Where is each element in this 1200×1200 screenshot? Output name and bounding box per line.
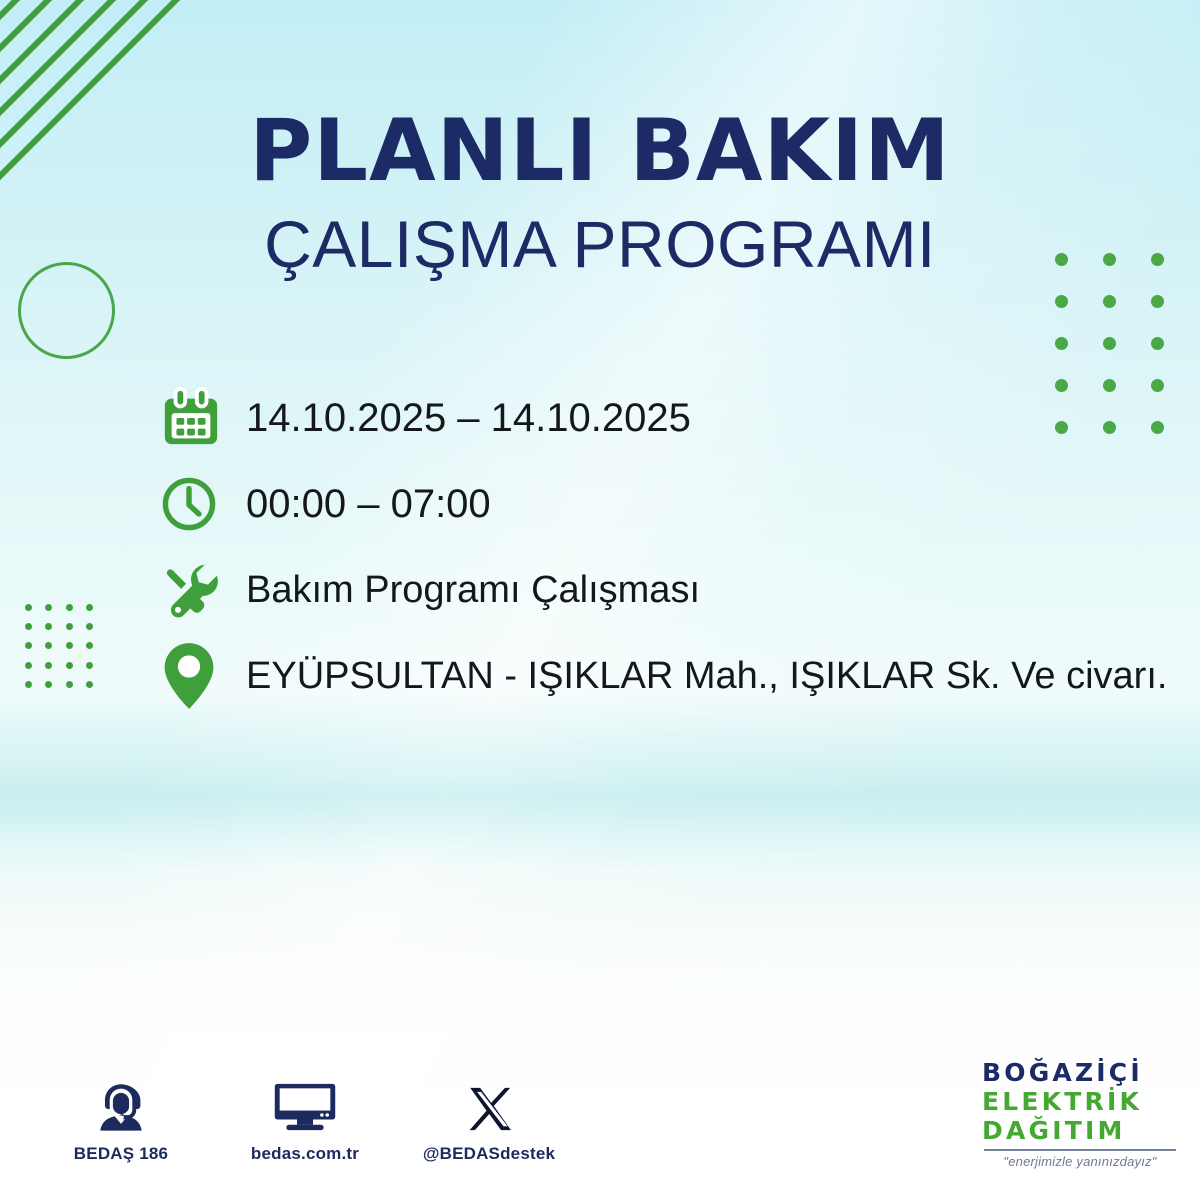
page-title: PLANLI BAKIM bbox=[0, 108, 1200, 194]
brand-line-2: ELEKTRİK bbox=[982, 1087, 1178, 1116]
detail-value-work-type: Bakım Programı Çalışması bbox=[246, 568, 700, 612]
clock-icon bbox=[160, 461, 246, 547]
poster-canvas: PLANLI BAKIM ÇALIŞMA PROGRAMI 14.10.2025 bbox=[0, 0, 1200, 1200]
calendar-icon bbox=[160, 375, 246, 461]
detail-row-time: 00:00 – 07:00 bbox=[160, 461, 1140, 547]
detail-row-location: EYÜPSULTAN - IŞIKLAR Mah., IŞIKLAR Sk. V… bbox=[160, 633, 1140, 719]
contact-phone[interactable]: BEDAŞ 186 bbox=[52, 1078, 190, 1164]
brand-divider bbox=[984, 1149, 1176, 1151]
detail-value-location: EYÜPSULTAN - IŞIKLAR Mah., IŞIKLAR Sk. V… bbox=[246, 654, 1167, 698]
background-wave-band bbox=[0, 690, 1200, 920]
brand-tagline: "enerjimizle yanınızdayız" bbox=[982, 1154, 1178, 1169]
detail-value-time: 00:00 – 07:00 bbox=[246, 482, 491, 526]
page-subtitle: ÇALIŞMA PROGRAMI bbox=[0, 209, 1200, 279]
detail-value-date: 14.10.2025 – 14.10.2025 bbox=[246, 396, 691, 440]
contact-phone-label: BEDAŞ 186 bbox=[74, 1144, 168, 1164]
brand-line-3: DAĞITIM bbox=[982, 1116, 1178, 1145]
contact-website-label: bedas.com.tr bbox=[251, 1144, 359, 1164]
headset-support-icon bbox=[94, 1078, 148, 1134]
location-pin-icon bbox=[160, 633, 246, 719]
footer-contacts: BEDAŞ 186 bedas.com.tr bbox=[52, 1078, 558, 1164]
brand-line-1: BOĞAZİÇİ bbox=[982, 1058, 1178, 1087]
contact-website[interactable]: bedas.com.tr bbox=[236, 1078, 374, 1164]
monitor-icon bbox=[273, 1078, 337, 1134]
contact-social[interactable]: @BEDASdestek bbox=[420, 1078, 558, 1164]
details-list: 14.10.2025 – 14.10.2025 00:00 – 07:00 bbox=[160, 375, 1140, 719]
detail-row-work-type: Bakım Programı Çalışması bbox=[160, 547, 1140, 633]
contact-social-label: @BEDASdestek bbox=[423, 1144, 555, 1164]
brand-logo: BOĞAZİÇİ ELEKTRİK DAĞITIM "enerjimizle y… bbox=[982, 1058, 1178, 1169]
detail-row-date: 14.10.2025 – 14.10.2025 bbox=[160, 375, 1140, 461]
dot-grid-left-decoration bbox=[18, 598, 100, 694]
x-twitter-icon bbox=[464, 1078, 514, 1134]
tools-icon bbox=[160, 547, 246, 633]
